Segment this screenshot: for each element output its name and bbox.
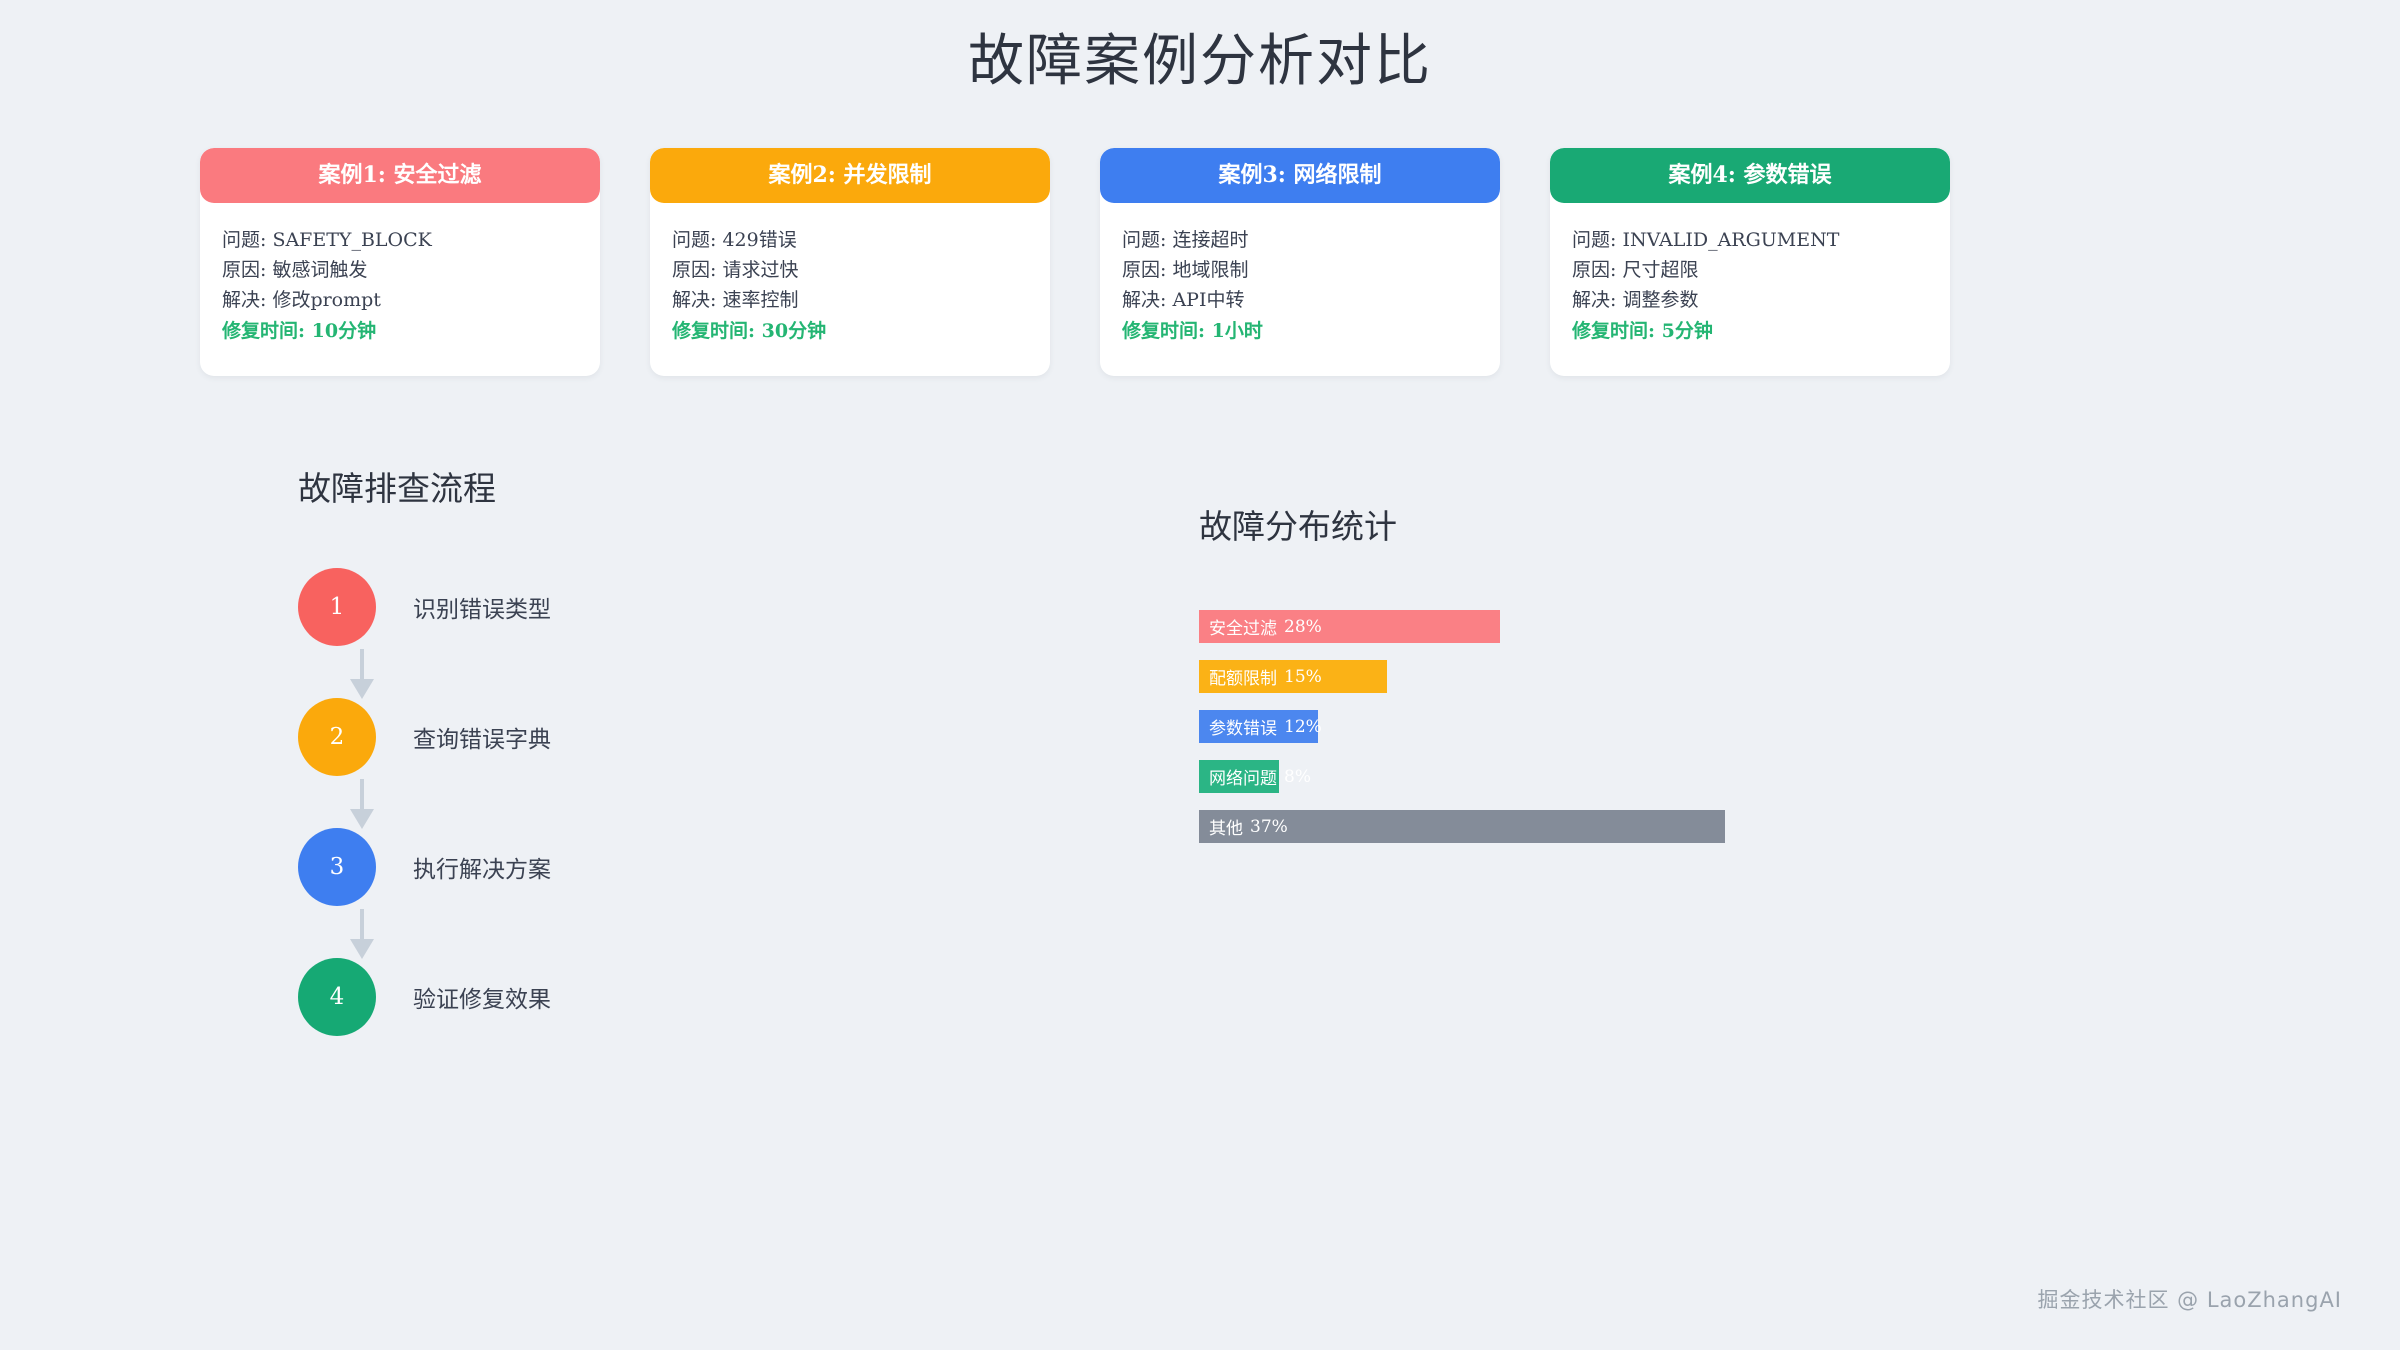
- bar-5: 其他37%: [1199, 810, 1725, 843]
- case-problem: 问题: 429错误: [672, 225, 1028, 255]
- flow-arrow-down-icon: [348, 779, 376, 831]
- case-card-header: 案例3: 网络限制: [1100, 148, 1500, 203]
- troubleshooting-flow-section: 故障排查流程 1识别错误类型2查询错误字典3执行解决方案4验证修复效果: [298, 462, 998, 1036]
- case-card-body: 问题: SAFETY_BLOCK 原因: 敏感词触发 解决: 修改prompt …: [200, 203, 600, 376]
- bar-value-label: 37%: [1250, 817, 1288, 837]
- case-fix-time: 修复时间: 5分钟: [1572, 316, 1928, 346]
- bar-chart: 安全过滤28%配额限制15%参数错误12%网络问题8%其他37%: [1199, 610, 1819, 843]
- case-solution: 解决: 速率控制: [672, 285, 1028, 315]
- case-problem: 问题: SAFETY_BLOCK: [222, 225, 578, 255]
- case-card-2: 案例2: 并发限制 问题: 429错误 原因: 请求过快 解决: 速率控制 修复…: [650, 148, 1050, 376]
- case-card-header: 案例1: 安全过滤: [200, 148, 600, 203]
- fault-distribution-section: 故障分布统计 安全过滤28%配额限制15%参数错误12%网络问题8%其他37%: [1199, 500, 1819, 860]
- case-fix-time: 修复时间: 30分钟: [672, 316, 1028, 346]
- bar-row: 安全过滤28%: [1199, 610, 1819, 643]
- case-card-body: 问题: 连接超时 原因: 地域限制 解决: API中转 修复时间: 1小时: [1100, 203, 1500, 376]
- case-fix-time: 修复时间: 10分钟: [222, 316, 578, 346]
- case-card-1: 案例1: 安全过滤 问题: SAFETY_BLOCK 原因: 敏感词触发 解决:…: [200, 148, 600, 376]
- footer-watermark: 掘金技术社区 @ LaoZhangAI: [2037, 1284, 2342, 1314]
- flow-steps-list: 1识别错误类型2查询错误字典3执行解决方案4验证修复效果: [298, 568, 998, 1036]
- case-card-body: 问题: 429错误 原因: 请求过快 解决: 速率控制 修复时间: 30分钟: [650, 203, 1050, 376]
- chart-title: 故障分布统计: [1199, 500, 1819, 548]
- flow-step-label: 查询错误字典: [413, 720, 551, 754]
- flow-step-label: 识别错误类型: [413, 590, 551, 624]
- bar-category-label: 参数错误: [1209, 714, 1277, 739]
- flow-step-circle: 1: [298, 568, 376, 646]
- flow-step-label: 执行解决方案: [413, 850, 551, 884]
- flow-section-title: 故障排查流程: [298, 462, 998, 510]
- flow-step-circle: 4: [298, 958, 376, 1036]
- bar-row: 配额限制15%: [1199, 660, 1819, 693]
- flow-step-circle: 3: [298, 828, 376, 906]
- bar-4: 网络问题8%: [1199, 760, 1279, 793]
- case-solution: 解决: 调整参数: [1572, 285, 1928, 315]
- bar-value-label: 28%: [1284, 617, 1322, 637]
- bar-row: 其他37%: [1199, 810, 1819, 843]
- flow-step-4[interactable]: 4验证修复效果: [298, 958, 998, 1036]
- case-card-4: 案例4: 参数错误 问题: INVALID_ARGUMENT 原因: 尺寸超限 …: [1550, 148, 1950, 376]
- flow-arrow-down-icon: [348, 909, 376, 961]
- flow-arrow-down-icon: [348, 649, 376, 701]
- case-cause: 原因: 请求过快: [672, 255, 1028, 285]
- case-problem: 问题: INVALID_ARGUMENT: [1572, 225, 1928, 255]
- flow-step-label: 验证修复效果: [413, 980, 551, 1014]
- flow-step-1[interactable]: 1识别错误类型: [298, 568, 998, 646]
- bar-category-label: 网络问题: [1209, 764, 1277, 789]
- flow-step-3[interactable]: 3执行解决方案: [298, 828, 998, 906]
- case-solution: 解决: API中转: [1122, 285, 1478, 315]
- bar-3: 参数错误12%: [1199, 710, 1318, 743]
- case-card-header: 案例4: 参数错误: [1550, 148, 1950, 203]
- bar-value-label: 15%: [1284, 667, 1322, 687]
- bar-category-label: 安全过滤: [1209, 614, 1277, 639]
- bar-row: 参数错误12%: [1199, 710, 1819, 743]
- case-card-header: 案例2: 并发限制: [650, 148, 1050, 203]
- case-fix-time: 修复时间: 1小时: [1122, 316, 1478, 346]
- case-problem: 问题: 连接超时: [1122, 225, 1478, 255]
- bar-value-label: 8%: [1284, 767, 1311, 787]
- bar-category-label: 配额限制: [1209, 664, 1277, 689]
- page-title: 故障案例分析对比: [0, 16, 2400, 97]
- bar-category-label: 其他: [1209, 814, 1243, 839]
- case-card-3: 案例3: 网络限制 问题: 连接超时 原因: 地域限制 解决: API中转 修复…: [1100, 148, 1500, 376]
- flow-step-circle: 2: [298, 698, 376, 776]
- case-cause: 原因: 敏感词触发: [222, 255, 578, 285]
- bar-row: 网络问题8%: [1199, 760, 1819, 793]
- case-solution: 解决: 修改prompt: [222, 285, 578, 315]
- case-cards-row: 案例1: 安全过滤 问题: SAFETY_BLOCK 原因: 敏感词触发 解决:…: [200, 148, 1950, 376]
- flow-step-2[interactable]: 2查询错误字典: [298, 698, 998, 776]
- case-cause: 原因: 尺寸超限: [1572, 255, 1928, 285]
- bar-value-label: 12%: [1284, 717, 1322, 737]
- case-cause: 原因: 地域限制: [1122, 255, 1478, 285]
- case-card-body: 问题: INVALID_ARGUMENT 原因: 尺寸超限 解决: 调整参数 修…: [1550, 203, 1950, 376]
- bar-1: 安全过滤28%: [1199, 610, 1500, 643]
- bar-2: 配额限制15%: [1199, 660, 1387, 693]
